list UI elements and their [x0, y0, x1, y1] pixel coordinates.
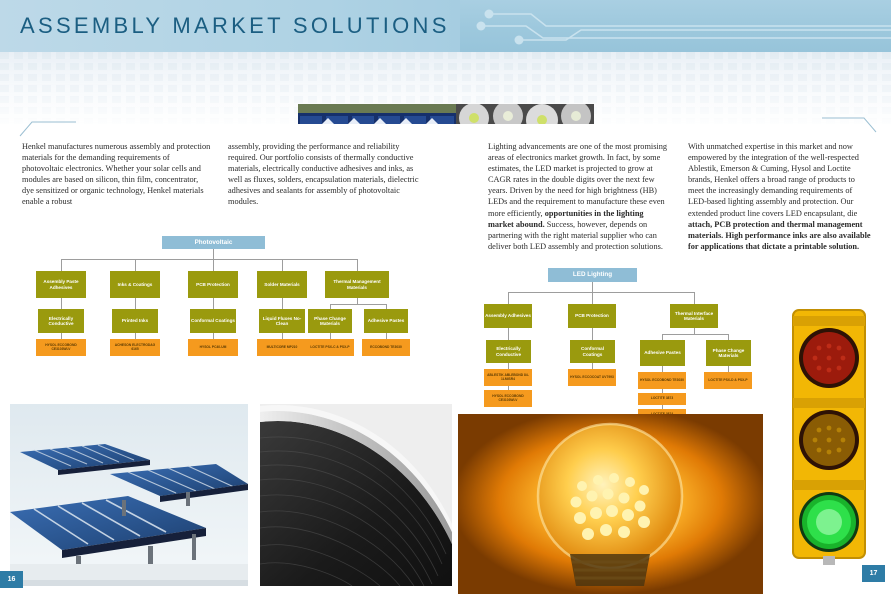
photo-curved-solar-panel	[260, 404, 452, 586]
top-banner: ASSEMBLY MARKET SOLUTIONS	[0, 0, 891, 52]
body-text-column-3: Lighting advancements are one of the mos…	[488, 141, 668, 252]
led-connector	[592, 328, 593, 340]
pv-connector	[135, 298, 136, 309]
pv-sub-conformal-coatings[interactable]: Conformal Coatings	[190, 309, 236, 333]
pv-connector	[282, 298, 283, 309]
pv-sub-bus	[330, 304, 386, 305]
pv-connector	[61, 259, 62, 271]
led-sub-adhesive-pastes[interactable]: Adhesive Pastes	[640, 340, 685, 366]
section-header-strip: PHOTOVOLTAIC (SOLAR) LED LIGHTING	[0, 52, 891, 124]
led-lighting-flowchart: LED Lighting Assembly Adhesives PCB Prot…	[474, 268, 764, 433]
header-led-array-image	[456, 104, 594, 124]
led-connector	[508, 328, 509, 340]
pv-sub-printed-inks[interactable]: Printed Inks	[112, 309, 158, 333]
photo-led-traffic-light	[775, 300, 881, 565]
photovoltaic-flowchart: Photovoltaic Assembly Paste Adhesives In…	[20, 236, 440, 366]
header-solar-panel-image	[298, 104, 456, 124]
page-number-right: 17	[862, 565, 885, 582]
pv-connector	[282, 259, 283, 271]
pv-connector	[213, 298, 214, 309]
led-connector	[592, 292, 593, 304]
led-product-hysol-eccocoat-uv7993[interactable]: HYSOL ECCOCOAT UV7993	[568, 369, 616, 386]
circuit-trace-decoration	[471, 0, 891, 52]
led-product-loctite-psx-d-psx-p[interactable]: LOCTITE PSX-D & PSX-P	[704, 372, 752, 389]
led-sub-electrically-conductive[interactable]: Electrically Conductive	[486, 340, 531, 363]
col4-text-part1: With unmatched expertise in this market …	[688, 142, 859, 218]
led-branch-thermal-interface-materials[interactable]: Thermal Interface Materials	[670, 304, 718, 328]
pv-branch-assembly-paste-adhesives[interactable]: Assembly Paste Adhesives	[36, 271, 86, 298]
photo-led-bulb	[458, 414, 763, 594]
pv-sub-phase-change-materials[interactable]: Phase Change Materials	[308, 309, 352, 333]
pv-product-multicore-mp210[interactable]: MULTICORE MP210	[257, 339, 307, 356]
pv-connector	[213, 259, 214, 271]
col4-text-bold: attach, PCB protection and thermal manag…	[688, 220, 871, 251]
accent-tick-left	[18, 118, 78, 138]
led-branch-pcb-protection[interactable]: PCB Protection	[568, 304, 616, 328]
led-product-loctite-3873[interactable]: LOCTITE 3873	[638, 393, 686, 405]
led-connector	[508, 292, 509, 304]
pv-branch-inks-coatings[interactable]: Inks & Coatings	[110, 271, 160, 298]
pv-connector	[357, 259, 358, 271]
pv-branch-solder-materials[interactable]: Solder Materials	[257, 271, 307, 298]
led-sub-conformal-coatings[interactable]: Conformal Coatings	[570, 340, 615, 363]
photo-solar-panel-array	[10, 404, 248, 586]
pv-branch-thermal-management-materials[interactable]: Thermal Management Materials	[325, 271, 389, 298]
page-number-left: 16	[0, 571, 23, 588]
col3-text-part1: Lighting advancements are one of the mos…	[488, 142, 667, 218]
pv-branch-pcb-protection[interactable]: PCB Protection	[188, 271, 238, 298]
pv-product-loctite-psx-c-psx-p[interactable]: LOCTITE PSX-C & PSX-P	[306, 339, 354, 356]
led-product-hysol-eccobond-ce3103wlv[interactable]: HYSOL ECCOBOND CE3103WLV	[484, 390, 532, 407]
pv-product-hysol-pc40-um[interactable]: HYSOL PC40-UM	[188, 339, 238, 356]
led-product-ablestik-ablebond-84-1lmisr4[interactable]: ABLESTIK ABLEBOND 84-1LMISR4	[484, 369, 532, 386]
pv-root-node[interactable]: Photovoltaic	[162, 236, 265, 249]
pv-sub-adhesive-pastes[interactable]: Adhesive Pastes	[364, 309, 408, 333]
pv-connector	[61, 298, 62, 309]
accent-tick-right	[820, 112, 880, 134]
body-text-column-1: Henkel manufactures numerous assembly an…	[22, 141, 212, 208]
pv-sub-electrically-conductive[interactable]: Electrically Conductive	[38, 309, 84, 333]
pv-product-acheson-electrodag-6165[interactable]: ACHESON ELECTRODAG 6165	[110, 339, 160, 356]
led-root-node[interactable]: LED Lighting	[548, 268, 637, 282]
led-connector	[694, 292, 695, 304]
page-spread: ASSEMBLY MARKET SOLUTIONS	[0, 0, 891, 594]
led-connector	[592, 282, 593, 292]
pv-connector	[213, 249, 214, 259]
led-sub-phase-change-materials[interactable]: Phase Change Materials	[706, 340, 751, 366]
page-title: ASSEMBLY MARKET SOLUTIONS	[20, 13, 450, 39]
led-branch-assembly-adhesives[interactable]: Assembly Adhesives	[484, 304, 532, 328]
pv-product-eccobond-te3030[interactable]: ECCOBOND TE3030	[362, 339, 410, 356]
pv-product-hysol-eccobond-ce3103wlv[interactable]: HYSOL ECCOBOND CE3103WLV	[36, 339, 86, 356]
led-sub-bus	[662, 334, 728, 335]
pv-connector	[135, 259, 136, 271]
pv-sub-liquid-fluxes-no-clean[interactable]: Liquid Fluxes No-Clean	[259, 309, 305, 333]
led-product-hysol-eccobond-te3030[interactable]: HYSOL ECCOBOND TE3030	[638, 372, 686, 389]
led-bus	[508, 292, 694, 293]
body-text-column-4: With unmatched expertise in this market …	[688, 141, 873, 252]
pv-bus	[61, 259, 357, 260]
body-text-column-2: assembly, providing the performance and …	[228, 141, 423, 208]
